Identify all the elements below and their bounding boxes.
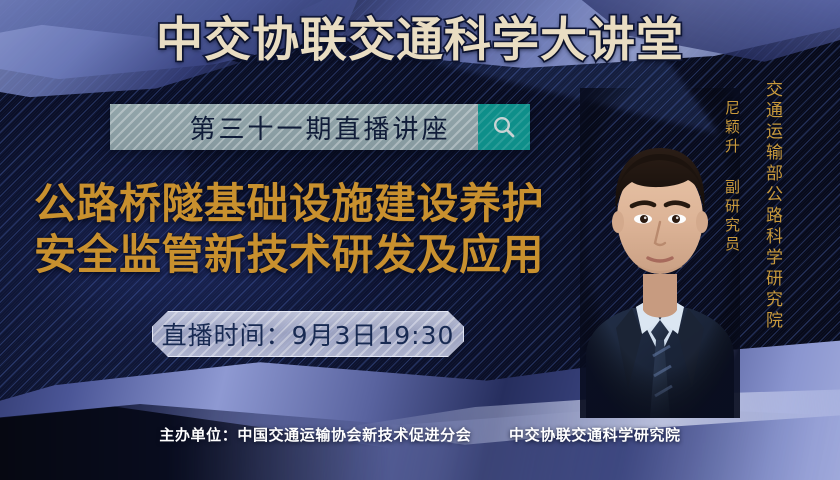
search-icon xyxy=(491,114,517,140)
organizer-prefix: 主办单位：中国交通运输协会新技术促进分会 xyxy=(159,426,471,444)
speaker-organization: 交通运输部公路科学研究院 xyxy=(760,80,785,332)
episode-label-container: 第三十一期直播讲座 xyxy=(110,104,478,150)
episode-label: 第三十一期直播讲座 xyxy=(137,109,450,146)
organizer-footer: 主办单位：中国交通运输协会新技术促进分会 中交协联交通科学研究院 xyxy=(0,424,840,445)
headline-line-2: 安全监管新技术研发及应用 xyxy=(34,229,544,280)
live-time-label: 直播时间：9月3日19:30 xyxy=(162,316,455,352)
headline: 公路桥隧基础设施建设养护 安全监管新技术研发及应用 xyxy=(34,178,544,280)
speaker-name-title: 尼颖升 副研究员 xyxy=(722,100,743,255)
episode-banner: 第三十一期直播讲座 xyxy=(110,104,530,150)
headline-line-1: 公路桥隧基础设施建设养护 xyxy=(34,178,544,229)
page-title: 中交协联交通科学大讲堂 xyxy=(0,16,840,65)
speaker-photo xyxy=(580,88,740,418)
search-button[interactable] xyxy=(478,104,530,150)
speaker-portrait xyxy=(580,88,740,418)
organizer-suffix: 中交协联交通科学研究院 xyxy=(509,426,681,444)
live-time-badge: 直播时间：9月3日19:30 xyxy=(152,311,464,357)
live-stream-poster: 中交协联交通科学大讲堂 第三十一期直播讲座 公路桥隧基础设施建设养护 安全监管新… xyxy=(0,0,840,480)
